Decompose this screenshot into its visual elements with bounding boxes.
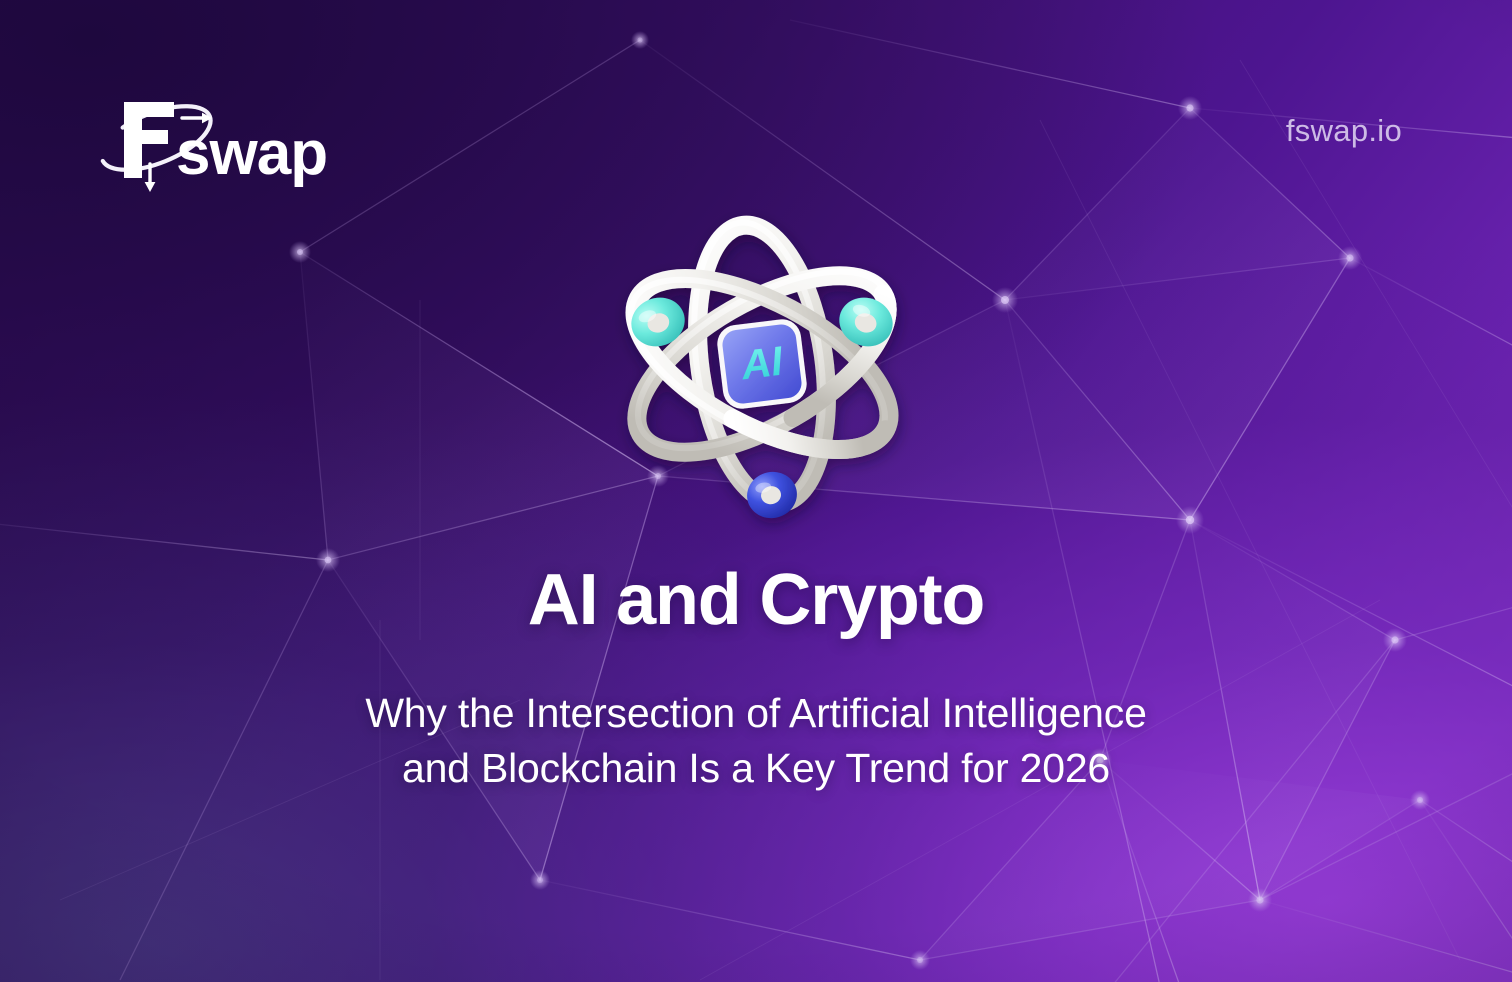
subtitle-line-1: Why the Intersection of Artificial Intel…	[0, 686, 1512, 741]
fswap-logo[interactable]: swap	[88, 86, 328, 194]
bead-blue-bottom	[743, 467, 801, 522]
svg-text:swap: swap	[176, 119, 327, 188]
subtitle-line-2: and Blockchain Is a Key Trend for 2026	[0, 741, 1512, 796]
banner-canvas: swap fswap.io	[0, 0, 1512, 982]
ai-atom-icon: AI	[612, 212, 912, 522]
site-url[interactable]: fswap.io	[1286, 113, 1402, 149]
ai-chip-label: AI	[738, 337, 787, 388]
page-title: AI and Crypto	[0, 564, 1512, 637]
ai-chip: AI	[715, 317, 809, 411]
page-subtitle: Why the Intersection of Artificial Intel…	[0, 686, 1512, 795]
